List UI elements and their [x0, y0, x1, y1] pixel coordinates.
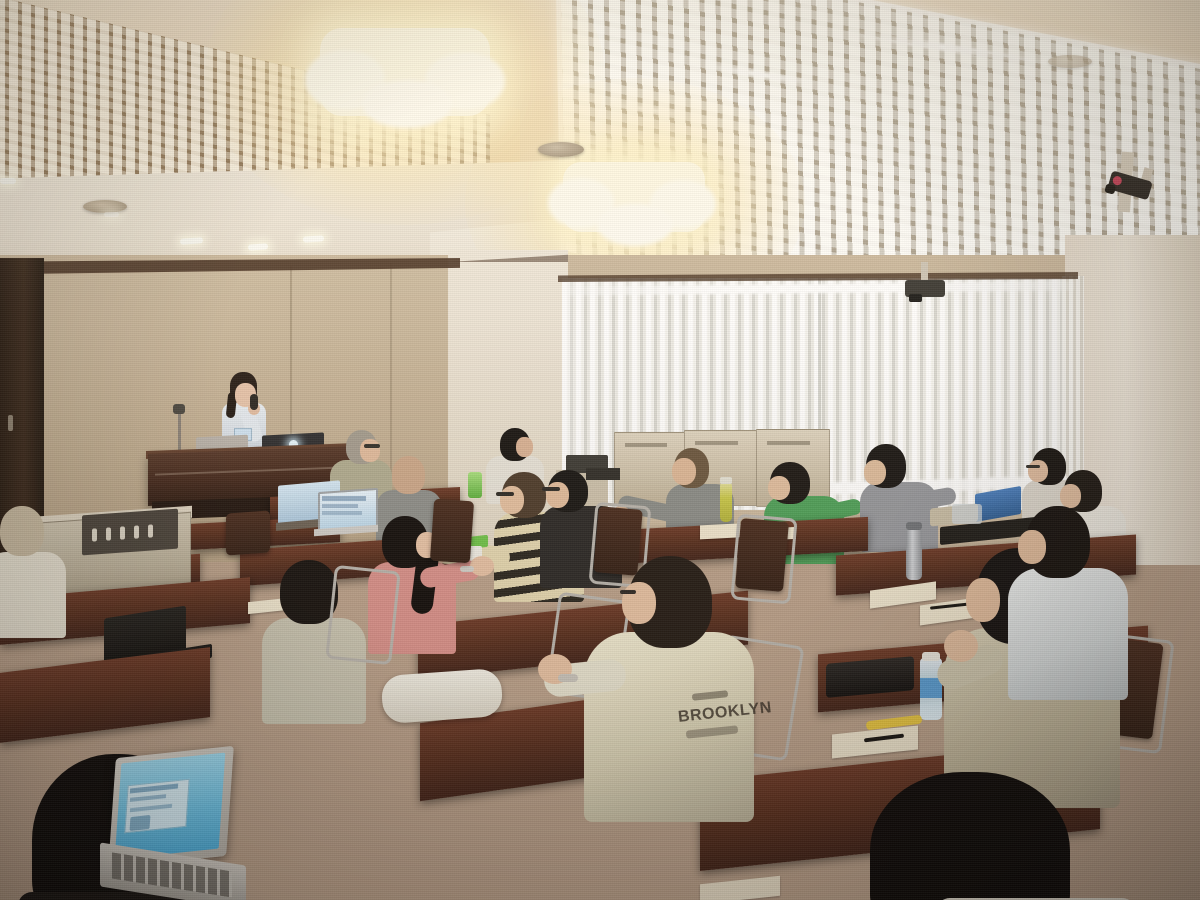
microphone-icon	[173, 404, 185, 414]
bottle-green-drink	[468, 472, 482, 498]
screen-icon	[130, 815, 151, 831]
conference-table	[0, 647, 210, 743]
bottle-cap	[720, 477, 732, 484]
seminar-room-photo: BROOKLYN	[0, 0, 1200, 900]
plastic-cups	[952, 504, 982, 524]
attendee-back-left	[0, 506, 66, 626]
attendee-gray-longsleeve	[856, 444, 938, 550]
glasses-icon	[496, 492, 514, 496]
ceiling-speaker-icon	[1048, 55, 1092, 68]
stacking-chair[interactable]	[430, 499, 474, 564]
smoke-detector-icon	[538, 142, 584, 157]
ceiling-lamp-center	[545, 148, 725, 253]
handheld-microphone-icon	[250, 394, 258, 410]
door-handle[interactable]	[8, 415, 13, 431]
paper-handout	[700, 876, 780, 900]
screen-text-line	[322, 511, 362, 515]
hand-on-chin	[944, 630, 978, 662]
chair-frame[interactable]	[325, 565, 400, 665]
glasses-icon	[620, 590, 636, 594]
stacking-chair[interactable]	[226, 510, 270, 555]
ceiling-projector	[905, 278, 945, 298]
dark-equipment-panel	[82, 509, 178, 556]
ceiling-lamp-left	[300, 10, 510, 130]
paper-handout	[832, 725, 918, 758]
glasses-icon	[542, 487, 560, 491]
attendee-brooklyn-tee: BROOKLYN	[554, 556, 754, 816]
glasses-icon	[1026, 465, 1040, 468]
screen-text-line	[322, 496, 366, 501]
downlight	[0, 178, 16, 184]
white-cloth-bag	[380, 668, 503, 724]
thermos-cap	[906, 522, 922, 530]
glasses-icon	[364, 444, 380, 448]
screen-text-line	[322, 504, 358, 508]
hand	[470, 556, 494, 576]
bottle-green-tea	[720, 482, 732, 522]
attendee-foreground-right	[870, 772, 1120, 900]
attendee-light-blue	[998, 506, 1128, 696]
bottle-thermos	[906, 528, 922, 580]
smoke-detector-icon	[83, 200, 127, 213]
downlight	[104, 212, 119, 217]
wristwatch	[558, 674, 578, 682]
wristwatch	[460, 566, 474, 572]
